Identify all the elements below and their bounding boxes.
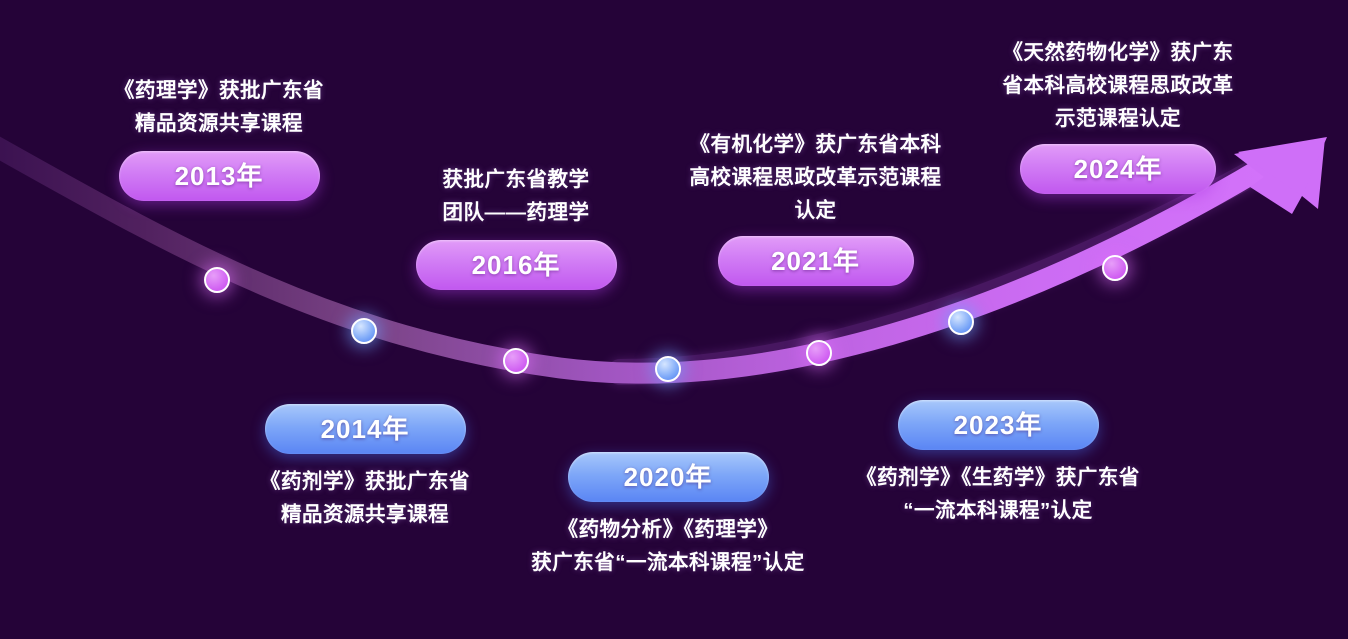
milestone-2013: 《药理学》获批广东省 精品资源共享课程 2013年 <box>60 74 378 201</box>
milestone-dot-2024[interactable] <box>1102 255 1128 281</box>
milestone-dot-2021[interactable] <box>806 340 832 366</box>
milestone-2021: 《有机化学》获广东省本科 高校课程思政改革示范课程 认定 2021年 <box>667 128 964 286</box>
milestone-dot-2014[interactable] <box>351 318 377 344</box>
milestone-pill-2021[interactable]: 2021年 <box>718 236 914 286</box>
milestone-pill-2020[interactable]: 2020年 <box>568 452 769 502</box>
milestone-caption-2021: 《有机化学》获广东省本科 高校课程思政改革示范课程 认定 <box>667 128 964 227</box>
milestone-pill-2016[interactable]: 2016年 <box>416 240 617 290</box>
milestone-2020: 2020年 《药物分析》《药理学》 获广东省“一流本科课程”认定 <box>500 452 836 579</box>
milestone-pill-2023[interactable]: 2023年 <box>898 400 1099 450</box>
milestone-caption-2013: 《药理学》获批广东省 精品资源共享课程 <box>60 74 378 140</box>
milestone-pill-2024[interactable]: 2024年 <box>1020 144 1216 194</box>
milestone-pill-2014[interactable]: 2014年 <box>265 404 466 454</box>
milestone-caption-2024: 《天然药物化学》获广东 省本科高校课程思政改革 示范课程认定 <box>965 36 1271 135</box>
milestone-caption-2014: 《药剂学》获批广东省 精品资源共享课程 <box>215 465 515 531</box>
milestone-2023: 2023年 《药剂学》《生药学》获广东省 “一流本科课程”认定 <box>838 400 1158 527</box>
milestone-dot-2013[interactable] <box>204 267 230 293</box>
milestone-caption-2023: 《药剂学》《生药学》获广东省 “一流本科课程”认定 <box>838 461 1158 527</box>
milestone-2024: 《天然药物化学》获广东 省本科高校课程思政改革 示范课程认定 2024年 <box>965 36 1271 194</box>
milestone-2016: 获批广东省教学 团队——药理学 2016年 <box>396 163 636 290</box>
milestone-dot-2016[interactable] <box>503 348 529 374</box>
milestone-caption-2016: 获批广东省教学 团队——药理学 <box>396 163 636 229</box>
timeline-infographic: 《药理学》获批广东省 精品资源共享课程 2013年 2014年 《药剂学》获批广… <box>0 0 1348 639</box>
milestone-pill-2013[interactable]: 2013年 <box>119 151 320 201</box>
milestone-2014: 2014年 《药剂学》获批广东省 精品资源共享课程 <box>215 404 515 531</box>
milestone-caption-2020: 《药物分析》《药理学》 获广东省“一流本科课程”认定 <box>500 513 836 579</box>
milestone-dot-2020[interactable] <box>655 356 681 382</box>
milestone-dot-2023[interactable] <box>948 309 974 335</box>
